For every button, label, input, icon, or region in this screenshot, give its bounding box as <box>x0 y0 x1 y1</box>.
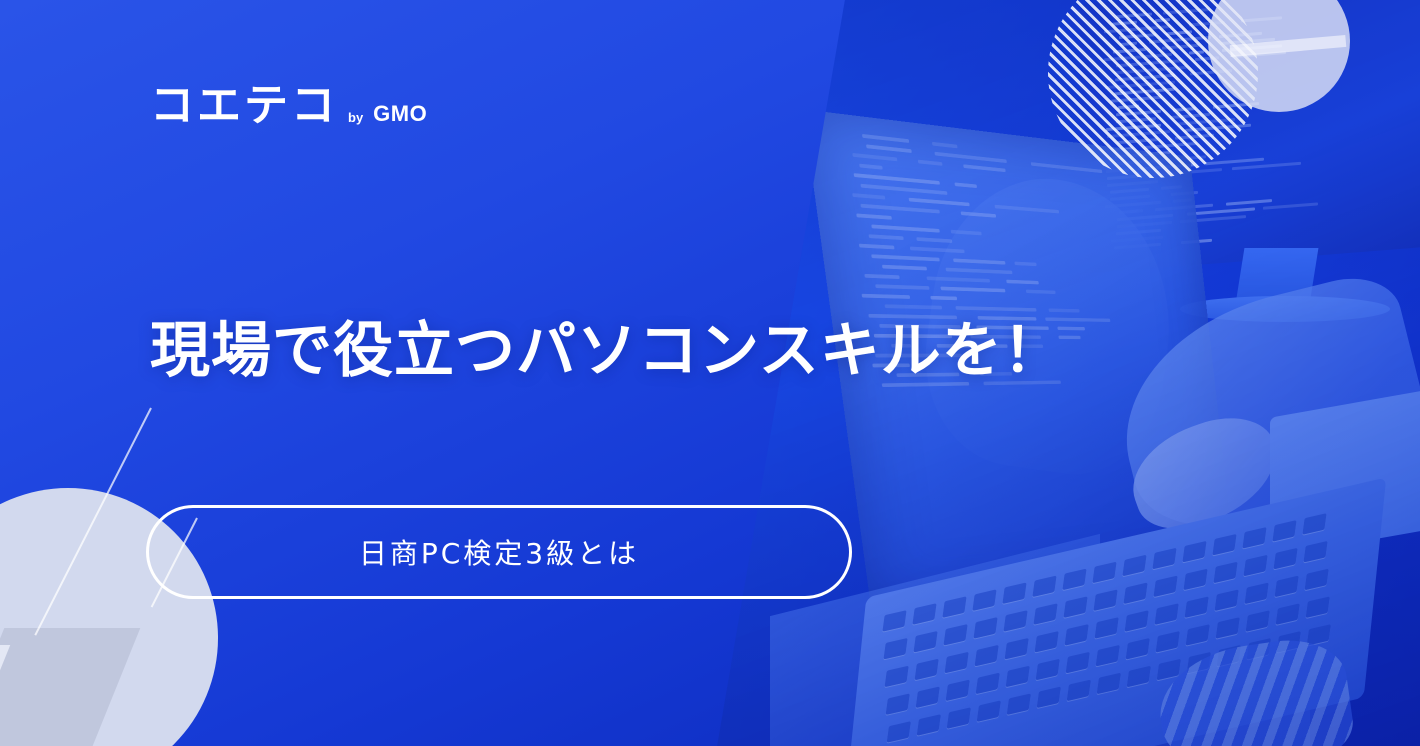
cta-button[interactable]: 日商PC検定3級とは <box>146 505 852 599</box>
logo-gmo-text: GMO <box>373 101 427 128</box>
logo-kana-text: コエテコ <box>150 84 338 128</box>
logo-by-text: by <box>348 110 363 128</box>
page-title: 現場で役立つパソコンスキルを！ <box>150 317 1064 386</box>
koeteko-logo[interactable]: コエテコ by GMO <box>150 84 427 128</box>
hero-banner: コエテコ by GMO 現場で役立つパソコンスキルを！ 日商PC検定3級とは <box>0 0 1420 746</box>
